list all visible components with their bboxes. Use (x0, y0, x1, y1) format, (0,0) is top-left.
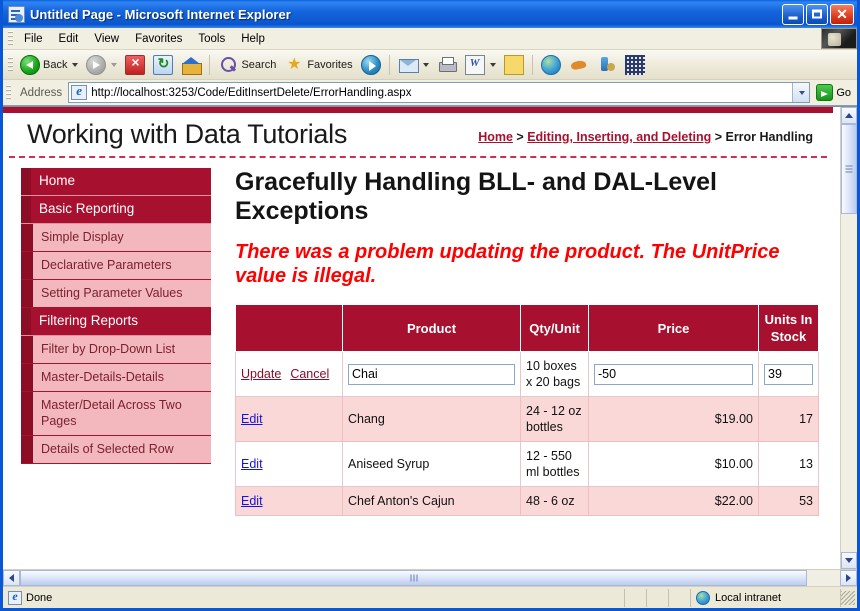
column-header-qty-unit: Qty/Unit (521, 305, 589, 352)
browser-window: Untitled Page - Microsoft Internet Explo… (0, 0, 860, 611)
row-price-cell: $19.00 (589, 397, 759, 442)
grid-icon (625, 55, 645, 75)
ie-status-icon (8, 591, 22, 605)
column-header-commands (236, 305, 343, 352)
window-title: Untitled Page - Microsoft Internet Explo… (30, 7, 776, 22)
row-commands-cell: Edit (236, 487, 343, 516)
messenger-button[interactable] (593, 55, 621, 75)
menu-edit[interactable]: Edit (51, 30, 87, 48)
globe-icon (696, 591, 710, 605)
breadcrumb-current: Error Handling (725, 130, 813, 144)
minimize-button[interactable] (782, 4, 804, 25)
vertical-scrollbar[interactable] (840, 107, 857, 569)
fox-button[interactable] (565, 55, 593, 75)
toolbar-separator (532, 55, 533, 75)
vertical-scroll-thumb[interactable] (841, 124, 857, 214)
table-row: Edit Chang 24 - 12 oz bottles $19.00 17 (236, 397, 819, 442)
menu-bar: File Edit View Favorites Tools Help (3, 28, 857, 50)
menu-favorites[interactable]: Favorites (127, 30, 190, 48)
product-name-input[interactable] (348, 364, 515, 385)
toolbar: Back Search ★ Favorites (3, 50, 857, 80)
page-viewport: Working with Data Tutorials Home > Editi… (3, 106, 857, 586)
row-commands-cell: Edit (236, 442, 343, 487)
home-button[interactable] (177, 55, 205, 75)
toolbar-separator (209, 55, 210, 75)
table-header-row: Product Qty/Unit Price Units In Stock (236, 305, 819, 352)
cancel-link[interactable]: Cancel (290, 366, 329, 382)
toolbar-separator (389, 55, 390, 75)
back-arrow-icon (20, 55, 40, 75)
error-message: There was a problem updating the product… (235, 240, 819, 288)
edit-link[interactable]: Edit (241, 457, 263, 471)
forward-arrow-icon (86, 55, 106, 75)
back-label: Back (43, 59, 67, 71)
row-stock-cell (759, 352, 819, 397)
mail-icon (398, 55, 418, 75)
site-title: Working with Data Tutorials (27, 119, 347, 150)
vertical-scroll-track[interactable] (841, 124, 857, 552)
chevron-right-icon (846, 574, 851, 582)
row-commands-cell: Edit (236, 397, 343, 442)
row-commands-cell: Update Cancel (236, 352, 343, 397)
chevron-up-icon (845, 113, 853, 118)
row-product-cell: Aniseed Syrup (343, 442, 521, 487)
search-icon (218, 55, 238, 75)
close-icon: ✕ (836, 7, 848, 21)
table-row: Edit Chef Anton's Cajun 48 - 6 oz $22.00… (236, 487, 819, 516)
title-bar: Untitled Page - Microsoft Internet Explo… (3, 0, 857, 28)
units-in-stock-input[interactable] (764, 364, 813, 385)
chevron-down-icon (72, 63, 78, 67)
security-zone-text: Local intranet (715, 592, 781, 604)
status-text: Done (26, 592, 52, 604)
row-stock-cell: 17 (759, 397, 819, 442)
media-button[interactable] (357, 55, 385, 75)
refresh-button[interactable] (149, 55, 177, 75)
chevron-left-icon (9, 574, 14, 582)
favorites-button[interactable]: ★ Favorites (280, 55, 356, 75)
menu-help[interactable]: Help (233, 30, 273, 48)
scroll-right-button[interactable] (840, 570, 857, 586)
menu-file[interactable]: File (16, 30, 51, 48)
sidebar-item-simple-display[interactable]: Simple Display (21, 224, 211, 252)
row-stock-cell: 53 (759, 487, 819, 516)
row-qty-cell: 48 - 6 oz (521, 487, 589, 516)
row-qty-cell: 10 boxes x 20 bags (521, 352, 589, 397)
messenger-icon (597, 55, 617, 75)
branding-logo (821, 28, 857, 49)
column-header-units-in-stock: Units In Stock (759, 305, 819, 352)
sidebar-item-basic-reporting[interactable]: Basic Reporting (21, 196, 211, 224)
address-url-text: http://localhost:3253/Code/EditInsertDel… (91, 87, 792, 99)
row-qty-cell: 24 - 12 oz bottles (521, 397, 589, 442)
row-stock-cell: 13 (759, 442, 819, 487)
address-grip[interactable] (6, 85, 11, 101)
ie-page-icon (71, 85, 87, 100)
table-row: Update Cancel 10 boxes x 20 bags (236, 352, 819, 397)
chevron-down-icon (845, 558, 853, 563)
stop-icon (125, 55, 145, 75)
status-pane-2 (647, 589, 669, 607)
breadcrumb: Home > Editing, Inserting, and Deleting … (458, 119, 813, 146)
horizontal-scroll-track[interactable] (20, 570, 840, 586)
breadcrumb-section-link[interactable]: Editing, Inserting, and Deleting (527, 130, 711, 144)
security-zone-pane: Local intranet (691, 589, 841, 607)
products-grid: Product Qty/Unit Price Units In Stock (235, 304, 819, 516)
sidebar-item-setting-parameter-values[interactable]: Setting Parameter Values (21, 280, 211, 308)
row-product-cell: Chef Anton's Cajun (343, 487, 521, 516)
column-header-product: Product (343, 305, 521, 352)
chevron-down-icon (111, 63, 117, 67)
sidebar-item-home[interactable]: Home (21, 168, 211, 196)
word-icon (465, 55, 485, 75)
fox-icon (569, 55, 589, 75)
edit-link[interactable]: Edit (241, 412, 263, 426)
printer-icon (437, 55, 457, 75)
breadcrumb-home-link[interactable]: Home (478, 130, 513, 144)
sidebar-item-filter-by-drop-down-list[interactable]: Filter by Drop-Down List (21, 336, 211, 364)
row-price-cell: $10.00 (589, 442, 759, 487)
table-row: Edit Aniseed Syrup 12 - 550 ml bottles $… (236, 442, 819, 487)
chevron-down-icon (799, 91, 805, 95)
sidebar-item-declarative-parameters[interactable]: Declarative Parameters (21, 252, 211, 280)
menu-grip[interactable] (8, 31, 13, 47)
stop-button[interactable] (121, 55, 149, 75)
status-bar: Done Local intranet (3, 586, 857, 608)
toolbar-grip[interactable] (8, 57, 13, 73)
forward-button[interactable] (82, 55, 121, 75)
scroll-down-button[interactable] (841, 552, 857, 569)
edit-word-button[interactable] (461, 55, 500, 75)
main-content: Gracefully Handling BLL- and DAL-Level E… (211, 168, 833, 516)
sidebar-nav: Home Basic Reporting Simple Display Decl… (3, 168, 211, 516)
address-label: Address (14, 87, 68, 99)
page-title: Gracefully Handling BLL- and DAL-Level E… (235, 168, 819, 226)
page-scroll-area: Working with Data Tutorials Home > Editi… (3, 107, 840, 569)
price-input[interactable] (594, 364, 753, 385)
address-dropdown-button[interactable] (792, 83, 809, 102)
row-price-cell: $22.00 (589, 487, 759, 516)
page-header: Working with Data Tutorials Home > Editi… (9, 113, 827, 158)
column-header-price: Price (589, 305, 759, 352)
row-product-cell (343, 352, 521, 397)
scroll-up-button[interactable] (841, 107, 857, 124)
sidebar-item-master-details-details[interactable]: Master-Details-Details (21, 364, 211, 392)
edit-link[interactable]: Edit (241, 494, 263, 508)
row-price-cell (589, 352, 759, 397)
close-button[interactable]: ✕ (830, 4, 854, 25)
go-button[interactable]: Go (810, 84, 855, 101)
update-link[interactable]: Update (241, 366, 281, 382)
search-button[interactable]: Search (214, 55, 280, 75)
menu-view[interactable]: View (86, 30, 127, 48)
sidebar-item-details-of-selected-row[interactable]: Details of Selected Row (21, 436, 211, 464)
mail-button[interactable] (394, 55, 433, 75)
go-arrow-icon (816, 84, 833, 101)
page-body: Home Basic Reporting Simple Display Decl… (3, 158, 833, 516)
scroll-left-button[interactable] (3, 570, 20, 586)
media-icon (361, 55, 381, 75)
globe-icon (541, 55, 561, 75)
breadcrumb-sep: > (711, 130, 725, 144)
sidebar-item-filtering-reports[interactable]: Filtering Reports (21, 308, 211, 336)
favorites-label: Favorites (307, 59, 352, 71)
search-label: Search (241, 59, 276, 71)
notes-button[interactable] (500, 55, 528, 75)
breadcrumb-sep: > (513, 130, 527, 144)
print-button[interactable] (433, 55, 461, 75)
back-button[interactable]: Back (16, 55, 82, 75)
status-text-pane: Done (3, 589, 625, 607)
star-icon: ★ (284, 55, 304, 75)
row-product-cell: Chang (343, 397, 521, 442)
refresh-icon (153, 55, 173, 75)
status-pane-1 (625, 589, 647, 607)
sidebar-item-master-detail-across-two-pages[interactable]: Master/Detail Across Two Pages (21, 392, 211, 436)
horizontal-scroll-thumb[interactable] (20, 570, 807, 586)
note-icon (504, 55, 524, 75)
horizontal-scrollbar[interactable] (3, 569, 857, 586)
row-qty-cell: 12 - 550 ml bottles (521, 442, 589, 487)
chevron-down-icon (490, 63, 496, 67)
resize-grip[interactable] (841, 591, 855, 605)
address-input[interactable]: http://localhost:3253/Code/EditInsertDel… (68, 82, 810, 103)
window-controls: ✕ (782, 4, 854, 25)
address-bar: Address http://localhost:3253/Code/EditI… (3, 80, 857, 106)
menu-tools[interactable]: Tools (190, 30, 233, 48)
status-pane-3 (669, 589, 691, 607)
go-label: Go (836, 87, 851, 99)
home-icon (181, 55, 201, 75)
chevron-down-icon (423, 63, 429, 67)
globe-button[interactable] (537, 55, 565, 75)
page-icon (8, 6, 25, 23)
maximize-button[interactable] (806, 4, 828, 25)
addon-button[interactable] (621, 55, 649, 75)
